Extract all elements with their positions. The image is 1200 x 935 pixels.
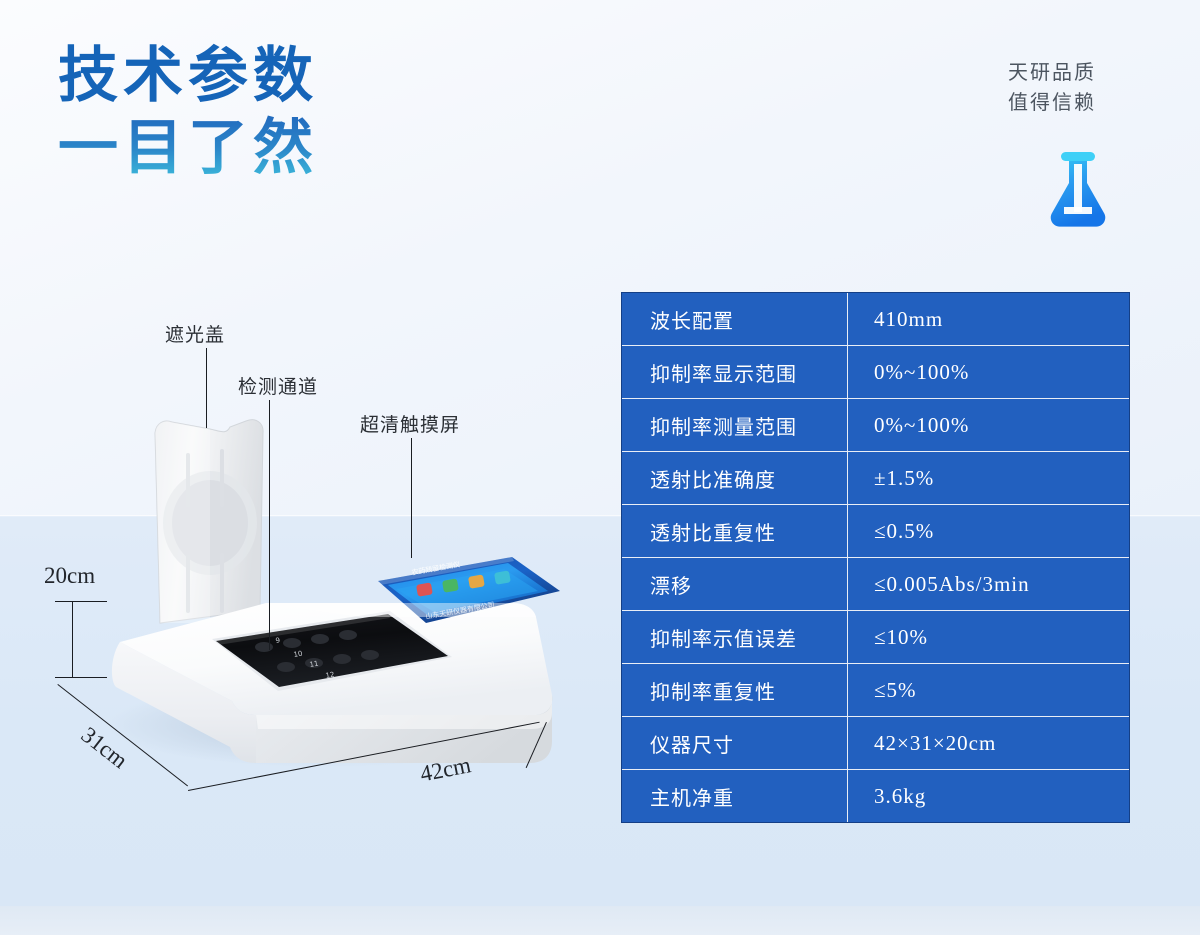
spec-label: 主机净重 bbox=[622, 770, 848, 822]
table-row: 抑制率测量范围 0%~100% bbox=[622, 399, 1129, 452]
callout-label-touchscreen: 超清触摸屏 bbox=[360, 410, 460, 437]
spec-label: 抑制率重复性 bbox=[622, 664, 848, 717]
callout-leader-light-shield bbox=[206, 348, 207, 428]
spec-label: 抑制率显示范围 bbox=[622, 346, 848, 399]
spec-label: 仪器尺寸 bbox=[622, 717, 848, 770]
table-row: 透射比重复性 ≤0.5% bbox=[622, 505, 1129, 558]
spec-label: 波长配置 bbox=[622, 293, 848, 346]
table-row: 抑制率重复性 ≤5% bbox=[622, 664, 1129, 717]
callout-leader-detection-channel bbox=[269, 400, 270, 650]
spec-label: 漂移 bbox=[622, 558, 848, 611]
background-footer-band bbox=[0, 906, 1200, 935]
product-illustration: 9 10 11 12 bbox=[60, 395, 600, 825]
dimension-label-height: 20cm bbox=[44, 563, 95, 589]
spec-value: 0%~100% bbox=[848, 346, 1129, 399]
light-shield-cover bbox=[155, 420, 263, 623]
callout-label-light-shield: 遮光盖 bbox=[165, 320, 225, 347]
page-title-line-1: 技术参数 bbox=[58, 40, 478, 112]
spec-label: 透射比准确度 bbox=[622, 452, 848, 505]
specification-table: 波长配置 410mm 抑制率显示范围 0%~100% 抑制率测量范围 0%~10… bbox=[622, 293, 1129, 822]
brand-slogan-line-2: 值得信赖 bbox=[962, 88, 1142, 118]
spec-value: ≤0.5% bbox=[848, 505, 1129, 558]
spec-value: 410mm bbox=[848, 293, 1129, 346]
page-title: 技术参数 一目了然 bbox=[58, 40, 478, 184]
spec-value: 0%~100% bbox=[848, 399, 1129, 452]
spec-value: ±1.5% bbox=[848, 452, 1129, 505]
table-row: 主机净重 3.6kg bbox=[622, 770, 1129, 822]
spec-label: 抑制率示值误差 bbox=[622, 611, 848, 664]
table-row: 透射比准确度 ±1.5% bbox=[622, 452, 1129, 505]
spec-value: ≤5% bbox=[848, 664, 1129, 717]
svg-text:11: 11 bbox=[309, 660, 319, 669]
table-row: 波长配置 410mm bbox=[622, 293, 1129, 346]
table-row: 漂移 ≤0.005Abs/3min bbox=[622, 558, 1129, 611]
dimension-tick-height-bottom bbox=[55, 677, 107, 678]
callout-label-detection-channel: 检测通道 bbox=[238, 372, 318, 399]
spec-value: ≤0.005Abs/3min bbox=[848, 558, 1129, 611]
svg-text:10: 10 bbox=[293, 650, 303, 659]
dimension-line-height bbox=[72, 601, 73, 677]
page-title-line-2: 一目了然 bbox=[58, 112, 478, 184]
spec-value: ≤10% bbox=[848, 611, 1129, 664]
product-spec-page: 技术参数 一目了然 天研品质 值得信赖 波长配置 bbox=[0, 0, 1200, 935]
brand-slogan: 天研品质 值得信赖 bbox=[962, 58, 1142, 118]
spec-label: 透射比重复性 bbox=[622, 505, 848, 558]
flask-icon bbox=[1040, 148, 1116, 228]
callout-leader-touchscreen bbox=[411, 438, 412, 558]
table-row: 抑制率显示范围 0%~100% bbox=[622, 346, 1129, 399]
spec-value: 42×31×20cm bbox=[848, 717, 1129, 770]
spec-label: 抑制率测量范围 bbox=[622, 399, 848, 452]
dimension-tick-height-top bbox=[55, 601, 107, 602]
table-row: 抑制率示值误差 ≤10% bbox=[622, 611, 1129, 664]
spec-value: 3.6kg bbox=[848, 770, 1129, 822]
brand-slogan-line-1: 天研品质 bbox=[962, 58, 1142, 88]
table-row: 仪器尺寸 42×31×20cm bbox=[622, 717, 1129, 770]
svg-text:12: 12 bbox=[325, 671, 335, 680]
